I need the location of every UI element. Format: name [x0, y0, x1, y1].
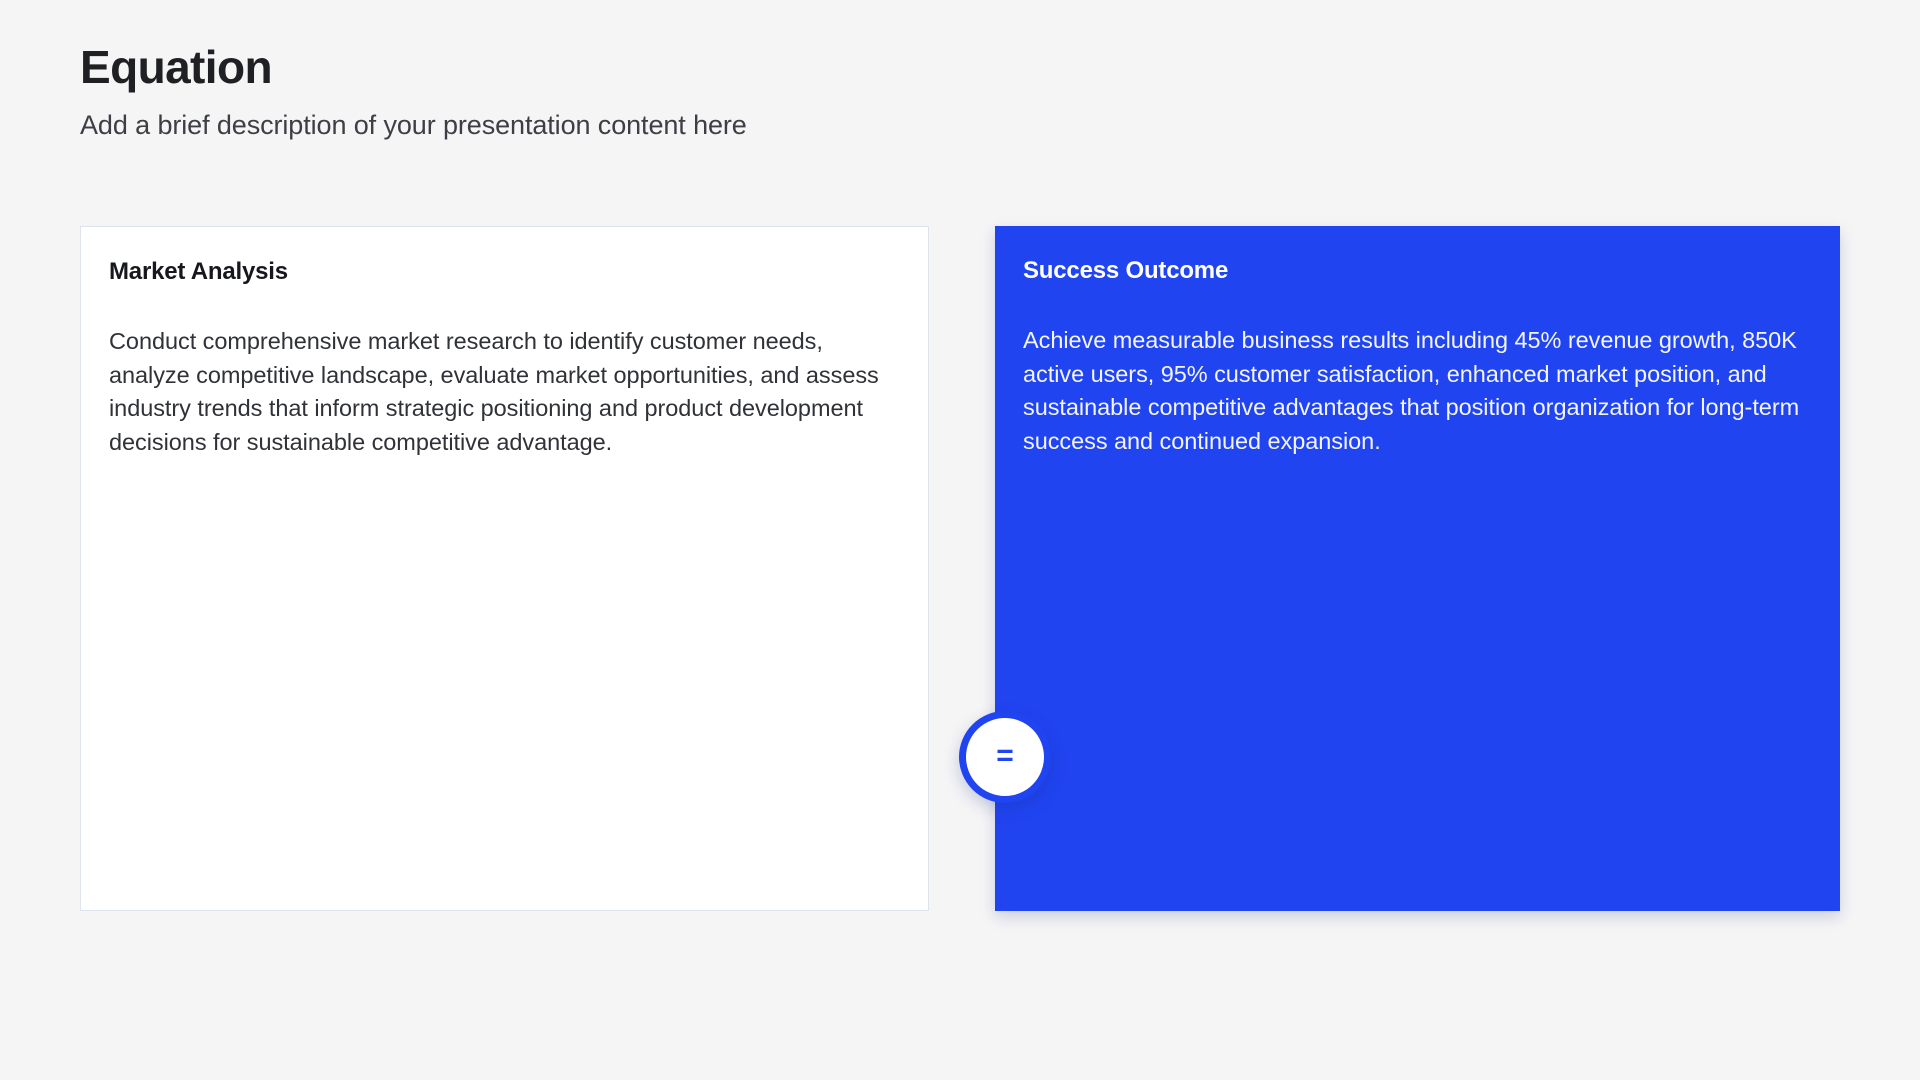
page-title: Equation [80, 42, 1580, 94]
card-heading-success-outcome: Success Outcome [1023, 256, 1812, 286]
equals-connector-badge[interactable]: = [959, 711, 1051, 803]
card-body-success-outcome: Achieve measurable business results incl… [1023, 324, 1812, 458]
slide-canvas: Equation Add a brief description of your… [0, 0, 1920, 1080]
card-body-market-analysis: Conduct comprehensive market research to… [109, 325, 900, 459]
equals-icon: = [996, 741, 1014, 771]
card-market-analysis[interactable]: Market Analysis Conduct comprehensive ma… [80, 226, 929, 911]
slide-header: Equation Add a brief description of your… [80, 42, 1580, 143]
equation-cards-row: Market Analysis Conduct comprehensive ma… [80, 226, 1840, 911]
card-success-outcome[interactable]: Success Outcome Achieve measurable busin… [995, 226, 1840, 911]
page-subtitle: Add a brief description of your presenta… [80, 108, 1580, 143]
card-heading-market-analysis: Market Analysis [109, 257, 900, 287]
